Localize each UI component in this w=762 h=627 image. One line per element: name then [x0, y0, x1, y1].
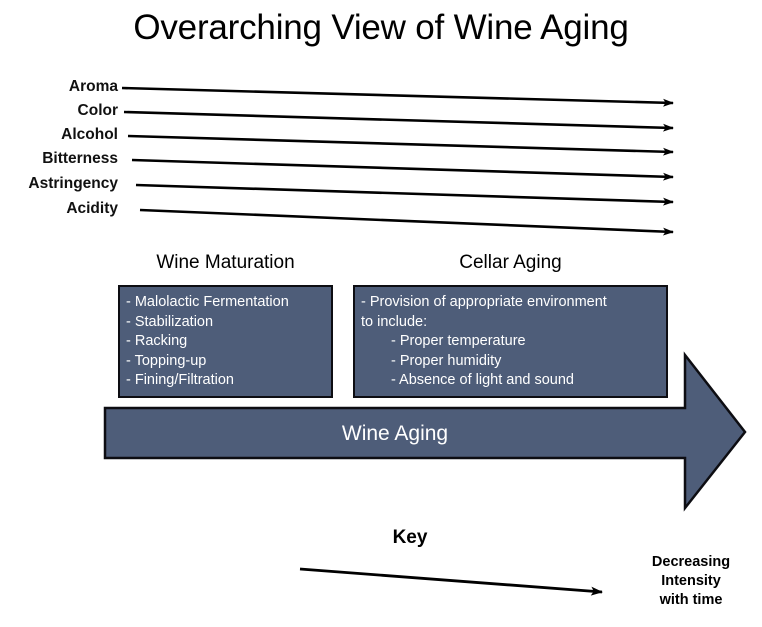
attribute-label-alcohol: Alcohol: [0, 126, 118, 144]
trend-arrow-bitterness: [132, 160, 673, 177]
attribute-label-bitterness: Bitterness: [0, 150, 118, 168]
stage-item: - Fining/Filtration: [126, 371, 331, 391]
trend-arrow-astringency: [136, 185, 673, 202]
key-arrow-line: [300, 569, 602, 592]
trend-arrow-color: [124, 112, 673, 128]
stage-item: - Proper humidity: [361, 352, 666, 372]
stage-box-cellar-aging: - Provision of appropriate environment t…: [353, 285, 668, 398]
stage-heading-wine-maturation: Wine Maturation: [118, 252, 333, 274]
key-caption-line: with time: [620, 591, 762, 610]
key-caption-line: Intensity: [620, 572, 762, 591]
stage-item: - Proper temperature: [361, 332, 666, 352]
stage-heading-cellar-aging: Cellar Aging: [353, 252, 668, 274]
stage-box-wine-maturation: - Malolactic Fermentation - Stabilizatio…: [118, 285, 333, 398]
stage-item: - Topping-up: [126, 352, 331, 372]
page-title: Overarching View of Wine Aging: [0, 8, 762, 48]
stage-item: - Provision of appropriate environment: [361, 293, 666, 313]
stage-item: to include:: [361, 313, 666, 333]
attribute-label-astringency: Astringency: [0, 175, 118, 193]
stage-item: - Stabilization: [126, 313, 331, 333]
wine-aging-arrow-label: Wine Aging: [105, 422, 685, 446]
trend-arrow-alcohol: [128, 136, 673, 152]
trend-arrow-acidity: [140, 210, 673, 232]
diagram-canvas: Overarching View of Wine Aging Aroma Col…: [0, 0, 762, 627]
attribute-label-acidity: Acidity: [0, 200, 118, 218]
attribute-label-aroma: Aroma: [0, 78, 118, 96]
stage-item: - Racking: [126, 332, 331, 352]
key-caption: Decreasing Intensity with time: [620, 553, 762, 610]
attribute-label-color: Color: [0, 102, 118, 120]
key-caption-line: Decreasing: [620, 553, 762, 572]
stage-item: - Malolactic Fermentation: [126, 293, 331, 313]
trend-arrow-aroma: [122, 88, 673, 103]
stage-item: - Absence of light and sound: [361, 371, 666, 391]
key-title: Key: [330, 527, 490, 549]
